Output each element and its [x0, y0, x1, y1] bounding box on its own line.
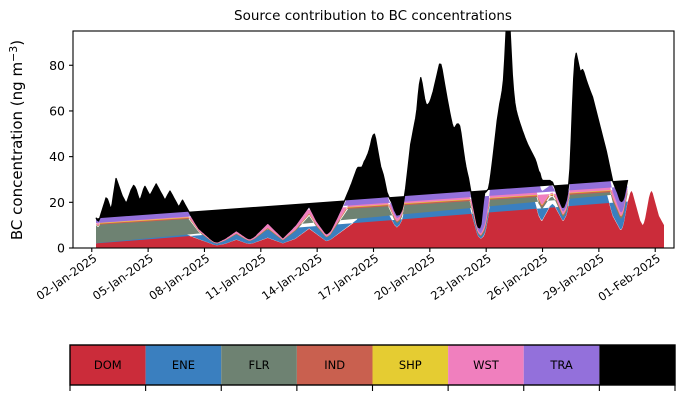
- y-tick-label: 60: [49, 103, 65, 118]
- y-tick-label: 0: [57, 241, 65, 256]
- legend-label-dom: DOM: [94, 358, 122, 372]
- y-axis-label-main: BC concentration (ng m: [8, 62, 26, 240]
- legend-label-flr: FLR: [249, 358, 270, 372]
- chart-title: Source contribution to BC concentrations: [234, 8, 512, 24]
- legend-label-ind: IND: [324, 358, 345, 372]
- y-tick-label: 80: [49, 58, 65, 73]
- y-axis-label-group: BC concentration (ng m−3): [7, 40, 26, 240]
- legend-label-bb: BB: [629, 358, 645, 372]
- legend-label-ene: ENE: [172, 358, 195, 372]
- y-axis-label-exponent: −3: [7, 46, 20, 62]
- y-tick-label: 20: [49, 195, 65, 210]
- chart-figure: Source contribution to BC concentrations…: [0, 0, 698, 402]
- legend-label-shp: SHP: [399, 358, 422, 372]
- y-tick-label: 40: [49, 149, 65, 164]
- chart-legend: DOMENEFLRINDSHPWSTTRABB: [70, 345, 675, 391]
- chart-canvas: Source contribution to BC concentrations…: [0, 0, 698, 402]
- legend-label-tra: TRA: [549, 358, 573, 372]
- legend-label-wst: WST: [473, 358, 500, 372]
- y-axis-label: BC concentration (ng m−3): [7, 40, 26, 240]
- y-axis-label-tail: ): [8, 40, 26, 46]
